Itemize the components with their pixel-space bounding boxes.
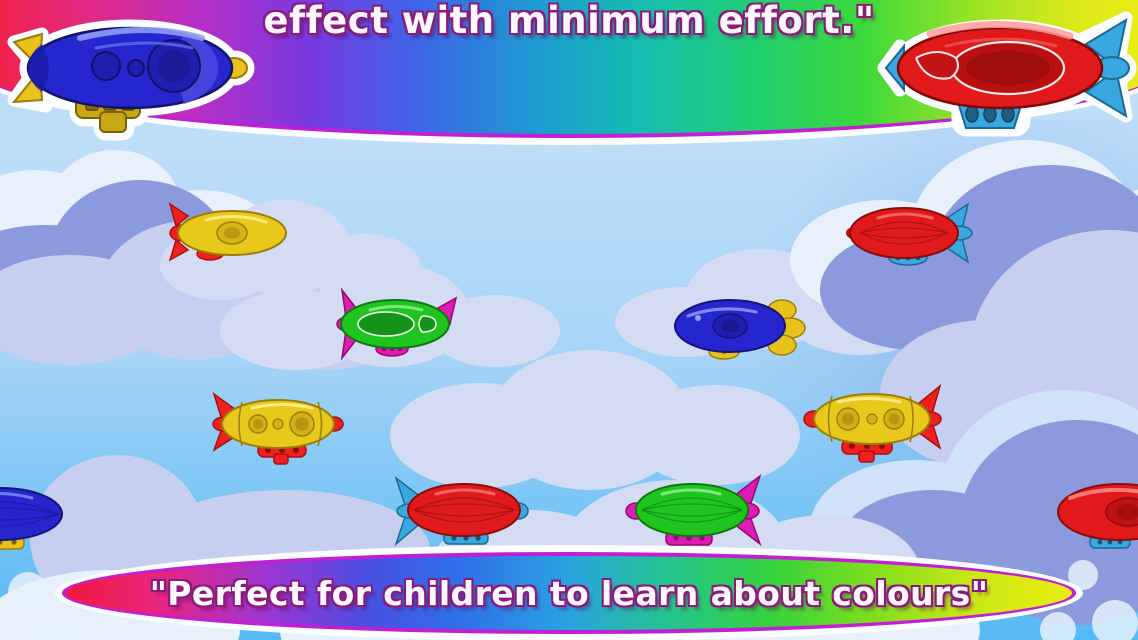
yellow-blimp-lower-left[interactable] (208, 388, 350, 468)
green-blimp-bottom-right[interactable] (618, 472, 768, 556)
red-blimp-right-edge[interactable] (1064, 474, 1138, 560)
yellow-blimp-upper-left[interactable] (166, 198, 296, 268)
green-blimp-mid-left[interactable] (330, 288, 462, 360)
red-blimp-upper-right[interactable] (846, 196, 978, 272)
blue-blimp-top-left[interactable] (0, 8, 258, 144)
yellow-blimp-lower-right[interactable] (796, 382, 946, 466)
bubble-decor (1040, 612, 1076, 640)
bubble-decor (1092, 600, 1138, 640)
red-blimp-top-right[interactable] (880, 6, 1138, 146)
bottom-banner: "Perfect for children to learn about col… (62, 552, 1076, 634)
bubble-decor (8, 572, 48, 612)
bottom-banner-quote: "Perfect for children to learn about col… (150, 574, 989, 613)
blue-blimp-left-edge[interactable] (0, 476, 72, 560)
app-screen: "Strategise for maximum effect with mini… (0, 0, 1138, 640)
bubble-decor (1068, 560, 1098, 590)
blue-blimp-mid-right[interactable] (672, 288, 806, 366)
red-blimp-bottom-middle[interactable] (388, 472, 538, 554)
